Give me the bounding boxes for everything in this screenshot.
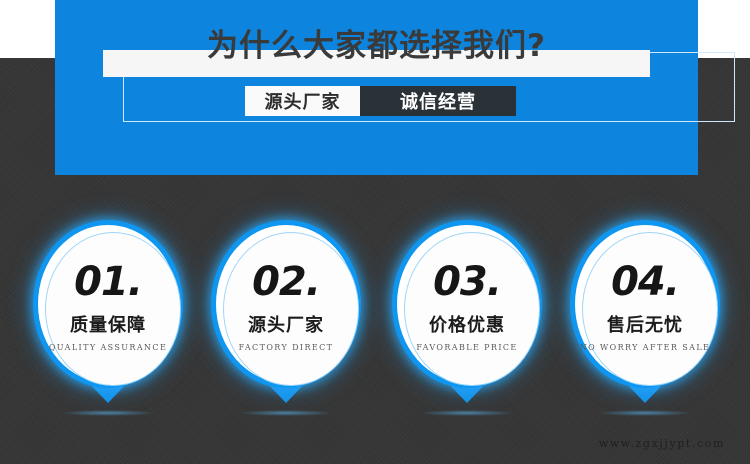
pointer-glow (240, 410, 332, 416)
card-title-cn: 售后无忧 (607, 311, 683, 337)
card-content: 03. 价格优惠 FAVORABLE PRICE (378, 218, 556, 388)
card-number: 04. (611, 262, 679, 302)
feature-card-04[interactable]: 04. 售后无忧 NO WORRY AFTER SALE (556, 218, 734, 428)
feature-card-row: 01. 质量保障 QUALITY ASSURANCE 02. 源头厂家 FACT… (0, 218, 750, 428)
card-number: 03. (433, 262, 501, 302)
feature-card-01[interactable]: 01. 质量保障 QUALITY ASSURANCE (19, 218, 197, 428)
site-watermark: www.zgxjjypt.com (599, 437, 725, 450)
pointer-glow (599, 410, 691, 416)
badge-source-factory[interactable]: 源头厂家 (245, 86, 360, 116)
card-title-en: FACTORY DIRECT (239, 343, 334, 352)
badge-honest-business[interactable]: 诚信经营 (360, 86, 516, 116)
card-number: 01. (74, 262, 142, 302)
card-title-cn: 价格优惠 (429, 311, 505, 337)
card-content: 04. 售后无忧 NO WORRY AFTER SALE (556, 218, 734, 388)
pointer-glow (62, 410, 154, 416)
pointer-glow (421, 410, 513, 416)
feature-card-02[interactable]: 02. 源头厂家 FACTORY DIRECT (197, 218, 375, 428)
card-content: 01. 质量保障 QUALITY ASSURANCE (19, 218, 197, 388)
card-number: 02. (252, 262, 320, 302)
feature-card-03[interactable]: 03. 价格优惠 FAVORABLE PRICE (378, 218, 556, 428)
card-title-en: FAVORABLE PRICE (416, 343, 517, 352)
card-title-en: QUALITY ASSURANCE (49, 343, 167, 352)
card-title-cn: 源头厂家 (248, 311, 324, 337)
card-title-en: NO WORRY AFTER SALE (580, 343, 711, 352)
card-title-cn: 质量保障 (70, 311, 146, 337)
header-badge-group: 源头厂家 诚信经营 (245, 86, 516, 116)
card-content: 02. 源头厂家 FACTORY DIRECT (197, 218, 375, 388)
promo-banner: 为什么大家都选择我们? 源头厂家 诚信经营 01. 质量保障 QUALITY A… (0, 0, 750, 464)
page-title: 为什么大家都选择我们? (55, 22, 698, 70)
